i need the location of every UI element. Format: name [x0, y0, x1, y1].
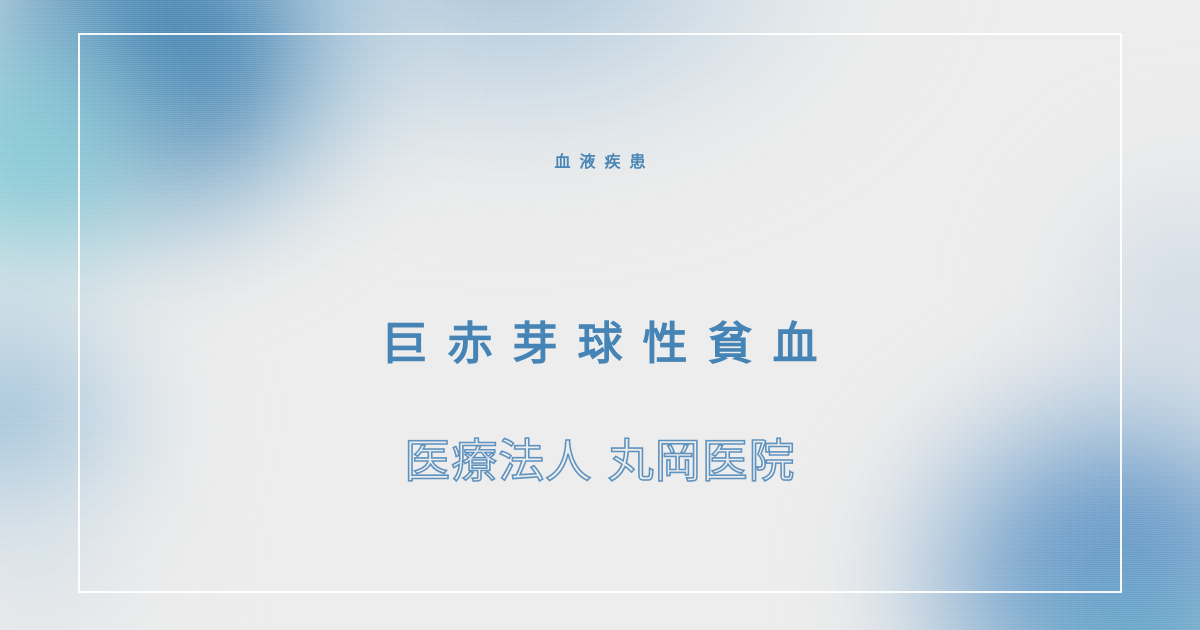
category-eyebrow: 血液疾患 — [0, 152, 1200, 171]
organization-name: 医療法人 丸岡医院 — [0, 434, 1200, 489]
title-card: 血液疾患 巨赤芽球性貧血 医療法人 丸岡医院 — [0, 0, 1200, 630]
hero-content: 血液疾患 巨赤芽球性貧血 医療法人 丸岡医院 — [0, 0, 1200, 630]
page-title: 巨赤芽球性貧血 — [0, 317, 1200, 370]
